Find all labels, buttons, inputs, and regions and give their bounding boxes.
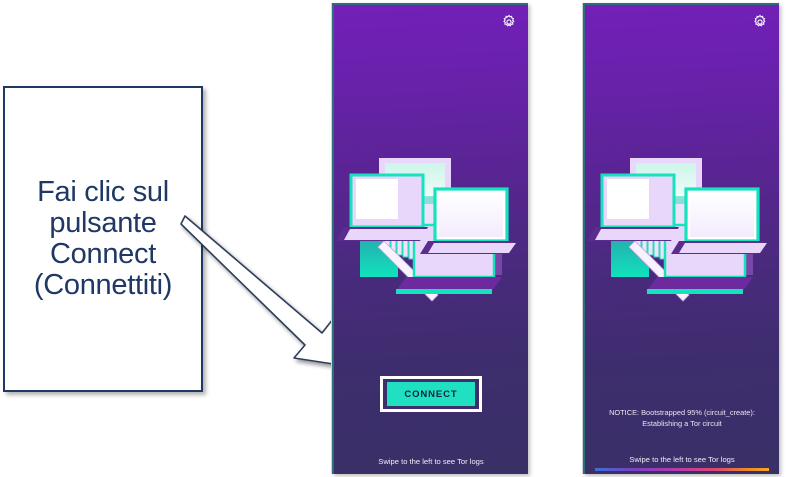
laptop-right: [420, 189, 516, 254]
laptops-illustration-svg: [587, 149, 777, 304]
connect-button[interactable]: CONNECT: [387, 382, 475, 406]
gear-icon[interactable]: [752, 14, 768, 30]
instruction-text: Fai clic sul pulsante Connect (Connettit…: [32, 177, 174, 301]
laptop-right: [671, 189, 767, 254]
instruction-callout: Fai clic sul pulsante Connect (Connettit…: [3, 86, 203, 392]
connect-button-frame[interactable]: CONNECT: [380, 376, 482, 412]
phone-top-edge: [585, 3, 779, 5]
laptop-left: [587, 175, 682, 241]
laptops-illustration: [587, 149, 777, 304]
phone-bootstrapping-screen: NOTICE: Bootstrapped 95% (circuit_create…: [583, 3, 779, 474]
screenshot-stage: Fai clic sul pulsante Connect (Connettit…: [0, 0, 806, 477]
bootstrap-notice: NOTICE: Bootstrapped 95% (circuit_create…: [594, 408, 770, 429]
swipe-hint: Swipe to the left to see Tor logs: [334, 457, 528, 466]
gear-icon[interactable]: [501, 14, 517, 30]
laptop-left: [336, 175, 431, 241]
bootstrap-progress-bar: [595, 468, 769, 471]
laptops-illustration: [336, 149, 526, 304]
arrow-body: [181, 216, 340, 365]
laptops-illustration-svg: [336, 149, 526, 304]
phone-connect-screen: CONNECT Swipe to the left to see Tor log…: [332, 3, 528, 474]
phone-top-edge: [334, 3, 528, 5]
swipe-hint: Swipe to the left to see Tor logs: [585, 455, 779, 464]
